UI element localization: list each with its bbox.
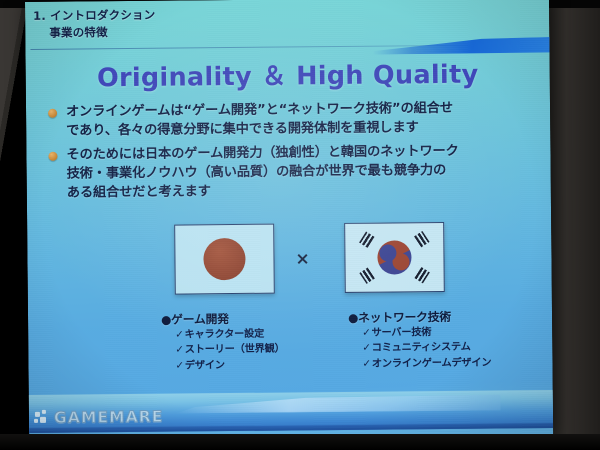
- bullet-line: オンラインゲームは“ゲーム開発”と“ネットワーク技術”の組合せ: [66, 101, 453, 120]
- check-icon: ✓: [175, 358, 183, 373]
- slide-footer-banner: GAMEMARE: [29, 390, 553, 433]
- flag-comparison: ×: [27, 221, 552, 306]
- bullet-dot-icon: [48, 152, 57, 161]
- column-heading: ●ネットワーク技術: [348, 308, 491, 326]
- slide-title: Originality ＆ High Quality: [26, 53, 550, 95]
- column-item: ✓デザイン: [175, 357, 284, 373]
- column-network-technology: ●ネットワーク技術 ✓サーバー技術 ✓コミュニティシステム ✓オンラインゲームデ…: [348, 308, 491, 372]
- check-icon: ✓: [362, 326, 370, 341]
- column-game-development: ●ゲーム開発 ✓キャラクター設定 ✓ストーリー（世界観） ✓デザイン: [161, 310, 285, 374]
- bullet-item: オンラインゲームは“ゲーム開発”と“ネットワーク技術”の組合せ であり、各々の得…: [48, 99, 540, 141]
- taegeuk-symbol: [377, 240, 411, 274]
- footer-highlight: [176, 394, 501, 413]
- bullet-line: であり、各々の得意分野に集中できる開発体制を重視します: [66, 120, 419, 138]
- column-item-label: ストーリー（世界観）: [185, 344, 285, 356]
- column-item: ✓コミュニティシステム: [362, 340, 491, 357]
- column-item-label: サーバー技術: [371, 327, 431, 339]
- header-line-1: 1. イントロダクション: [33, 7, 155, 25]
- column-item: ✓サーバー技術: [362, 325, 491, 342]
- bullet-line: そのためには日本のゲーム開発力（独創性）と韓国のネットワーク: [66, 144, 458, 163]
- japan-sun-disc: [203, 238, 245, 280]
- screenshot-root: 1. イントロダクション 事業の特徴 Originality ＆ High Qu…: [0, 0, 600, 450]
- column-item-label: オンラインゲームデザイン: [372, 357, 492, 369]
- wall-bottom-edge: [0, 434, 600, 450]
- projected-slide: 1. イントロダクション 事業の特徴 Originality ＆ High Qu…: [25, 0, 553, 439]
- logo-wordmark: GAMEMARE: [54, 408, 164, 427]
- slide-header: 1. イントロダクション 事業の特徴: [33, 7, 156, 42]
- column-item: ✓ストーリー（世界観）: [175, 342, 284, 358]
- gamemare-logo: GAMEMARE: [34, 408, 164, 427]
- column-item-label: キャラクター設定: [184, 329, 264, 341]
- bullet-dot-icon: [48, 109, 57, 118]
- bullet-list: オンラインゲームは“ゲーム開発”と“ネットワーク技術”の組合せ であり、各々の得…: [48, 99, 541, 209]
- bullet-item: そのためには日本のゲーム開発力（独創性）と韓国のネットワーク 技術・事業化ノウハ…: [48, 143, 541, 204]
- check-icon: ✓: [175, 343, 183, 358]
- bullet-text: そのためには日本のゲーム開発力（独創性）と韓国のネットワーク 技術・事業化ノウハ…: [66, 143, 459, 203]
- multiply-operator: ×: [295, 249, 309, 269]
- south-korea-flag-icon: [344, 222, 445, 293]
- header-line-2: 事業の特徴: [49, 23, 155, 41]
- column-item-label: デザイン: [185, 360, 225, 371]
- column-item: ✓オンラインゲームデザイン: [362, 355, 491, 372]
- column-heading: ●ゲーム開発: [161, 310, 284, 328]
- column-item-label: コミュニティシステム: [372, 342, 471, 354]
- trigram-icon: [359, 232, 374, 248]
- logo-mark-icon: [34, 409, 51, 426]
- bullet-text: オンラインゲームは“ゲーム開発”と“ネットワーク技術”の組合せ であり、各々の得…: [66, 100, 453, 141]
- trigram-icon: [359, 268, 375, 284]
- check-icon: ✓: [362, 356, 370, 371]
- check-icon: ✓: [175, 327, 183, 342]
- check-icon: ✓: [362, 341, 370, 356]
- japan-flag-icon: [174, 224, 275, 295]
- trigram-icon: [414, 231, 430, 247]
- bullet-line: 技術・事業化ノウハウ（高い品質）の融合が世界で最も競争力の: [67, 163, 447, 182]
- bullet-line: ある組合せだと考えます: [67, 184, 211, 200]
- trigram-icon: [414, 267, 429, 283]
- column-item: ✓キャラクター設定: [175, 327, 284, 343]
